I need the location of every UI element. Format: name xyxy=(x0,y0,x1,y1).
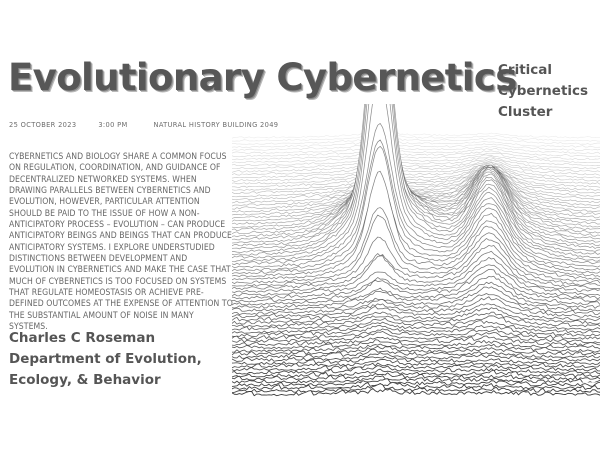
event-date: 25 OCTOBER 2023 xyxy=(9,120,76,129)
ridgeline-chart xyxy=(232,104,600,404)
ridgeline-chart-svg xyxy=(232,104,600,404)
cluster-label-line-1: Critical xyxy=(498,60,598,81)
cluster-label-line-3: Cluster xyxy=(498,102,598,123)
event-location: NATURAL HISTORY BUILDING 2049 xyxy=(154,120,279,129)
abstract-text: CYBERNETICS AND BIOLOGY SHARE A COMMON F… xyxy=(9,152,235,334)
cluster-label: Critical Cybernetics Cluster xyxy=(498,60,598,123)
ridgeline-trace xyxy=(232,130,600,138)
event-details: 25 OCTOBER 2023 3:00 PM NATURAL HISTORY … xyxy=(9,120,278,129)
event-time: 3:00 PM xyxy=(98,120,127,129)
speaker-name: Charles C Roseman xyxy=(9,328,229,349)
speaker-block: Charles C Roseman Department of Evolutio… xyxy=(9,328,229,391)
page-title: Evolutionary Cybernetics xyxy=(8,56,478,100)
speaker-affiliation-line-2: Ecology, & Behavior xyxy=(9,370,229,391)
cluster-label-line-2: Cybernetics xyxy=(498,81,598,102)
poster-canvas: Evolutionary Cybernetics Critical Cybern… xyxy=(0,0,600,462)
speaker-affiliation-line-1: Department of Evolution, xyxy=(9,349,229,370)
